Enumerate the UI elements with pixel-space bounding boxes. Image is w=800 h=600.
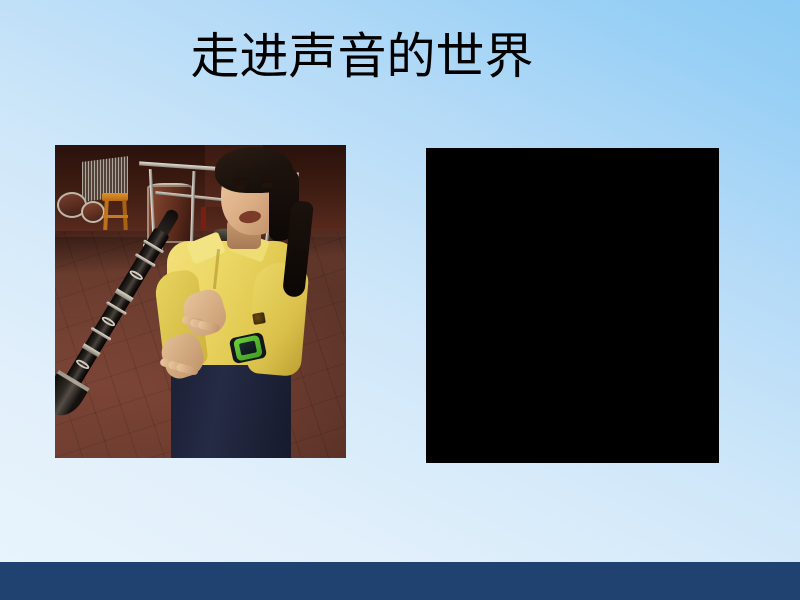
footer-band (0, 562, 800, 600)
page-title: 走进声音的世界 (190, 26, 533, 88)
clarinet-photo[interactable] (55, 145, 346, 458)
photo-finger (197, 320, 220, 332)
photo-stool-rung (103, 215, 128, 218)
photo-finger (176, 363, 199, 376)
title-placeholder[interactable]: 走进声音的世界 (0, 26, 800, 92)
photo-shirt-logo (252, 312, 266, 325)
photo-red-object (201, 207, 206, 229)
video-placeholder[interactable] (426, 148, 719, 463)
photo-drum-second (81, 201, 105, 223)
slide-canvas: 走进声音的世界 (0, 0, 800, 600)
